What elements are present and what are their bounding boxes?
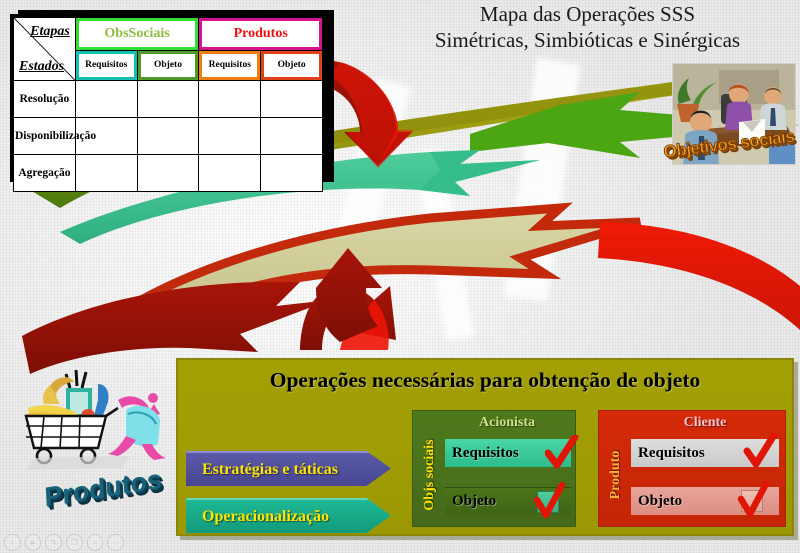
checkbox-label: Objeto (452, 493, 496, 510)
banner-label: Estratégias e táticas (202, 461, 338, 479)
table-row: Agregação (14, 155, 323, 192)
matrix-data-cell[interactable] (261, 118, 323, 155)
card-side-label-produto: Produto (608, 432, 628, 518)
table-row: Resolução (14, 81, 323, 118)
matrix-row-label: Disponibilização (14, 118, 76, 155)
slide-canvas: Etapas Estados ObsSociais Produtos Requi… (0, 0, 800, 553)
operations-panel-title: Operações necessárias para obtenção de o… (178, 368, 792, 393)
banner-operacionalizacao[interactable]: Operacionalização (186, 498, 391, 533)
matrix-columns-label: Etapas (30, 24, 70, 40)
checkbox-label: Requisitos (638, 445, 705, 462)
copy-icon[interactable]: ❐ (66, 534, 83, 551)
matrix-row-label: Resolução (14, 81, 76, 118)
checkbox-row-objeto[interactable]: Objeto (631, 487, 779, 515)
matrix-group-header-obssociais: ObsSociais (75, 18, 199, 51)
checkbox-row-objeto[interactable]: Objeto (445, 487, 571, 515)
checkbox-label: Objeto (638, 493, 682, 510)
search-icon[interactable]: ⌕ (87, 534, 104, 551)
matrix-subheader-label: Objeto (261, 51, 322, 80)
matrix-subheader-cell: Requisitos (199, 50, 261, 80)
page-title-line1: Mapa das Operações SSS (380, 2, 795, 28)
red-curved-band (598, 222, 800, 330)
overlay-toolbar[interactable]: ‹ ▸ ✎ ❐ ⌕ ··· (4, 534, 124, 551)
matrix-data-cell[interactable] (199, 155, 261, 192)
matrix-data-cell[interactable] (137, 155, 199, 192)
checkbox-box[interactable] (741, 490, 763, 512)
matrix-subheader-label: Requisitos (199, 51, 260, 80)
play-icon[interactable]: ▸ (25, 534, 42, 551)
page-title-line2: Simétricas, Simbióticas e Sinérgicas (380, 28, 795, 54)
matrix-group-label: ObsSociais (76, 18, 199, 50)
matrix-data-cell[interactable] (199, 118, 261, 155)
table-row: Disponibilização (14, 118, 323, 155)
matrix-row-label: Agregação (14, 155, 76, 192)
card-heading-cliente: Cliente (629, 415, 781, 431)
matrix-subheader-cell: Objeto (261, 50, 323, 80)
matrix-group-label: Produtos (199, 18, 322, 50)
checkbox-box[interactable] (537, 491, 559, 513)
checkbox-row-requisitos[interactable]: Requisitos (445, 439, 571, 467)
matrix-subheader-label: Objeto (138, 51, 199, 80)
check-icon (545, 435, 579, 471)
matrix-data-cell[interactable] (137, 81, 199, 118)
matrix-group-header-produtos: Produtos (199, 18, 323, 51)
card-acionista: Objs sociais Acionista Requisitos Objeto (412, 410, 576, 527)
matrix-table: Etapas Estados ObsSociais Produtos Requi… (10, 14, 326, 182)
matrix-data-cell[interactable] (199, 81, 261, 118)
banner-estrategias-taticas[interactable]: Estratégias e táticas (186, 451, 391, 486)
matrix-data-cell[interactable] (137, 118, 199, 155)
checkbox-row-requisitos[interactable]: Requisitos (631, 439, 779, 467)
back-icon[interactable]: ‹ (4, 534, 21, 551)
matrix-data-cell[interactable] (261, 155, 323, 192)
matrix-subheader-cell: Objeto (137, 50, 199, 80)
teal-arrow-head (420, 150, 540, 196)
shopping-cart-clipart (10, 358, 170, 478)
more-icon[interactable]: ··· (107, 534, 124, 551)
operations-panel: Operações necessárias para obtenção de o… (176, 358, 794, 536)
card-cliente: Produto Cliente Requisitos Objeto (598, 410, 786, 527)
matrix-data-cell[interactable] (75, 81, 137, 118)
matrix-subheader-cell: Requisitos (75, 50, 137, 80)
check-icon (743, 433, 779, 471)
card-heading-acionista: Acionista (443, 415, 571, 431)
matrix-data-cell[interactable] (261, 81, 323, 118)
red-uturn-gloss (330, 62, 414, 168)
checkbox-label: Requisitos (452, 445, 519, 462)
pen-icon[interactable]: ✎ (45, 534, 62, 551)
matrix-rows-label: Estados (19, 59, 64, 75)
matrix-data-cell[interactable] (75, 155, 137, 192)
matrix-corner-cell: Etapas Estados (14, 18, 76, 81)
page-title: Mapa das Operações SSS Simétricas, Simbi… (380, 2, 795, 53)
matrix-subheader-label: Requisitos (76, 51, 137, 80)
banner-label: Operacionalização (202, 508, 329, 526)
card-side-label-objs-sociais: Objs sociais (422, 432, 442, 518)
